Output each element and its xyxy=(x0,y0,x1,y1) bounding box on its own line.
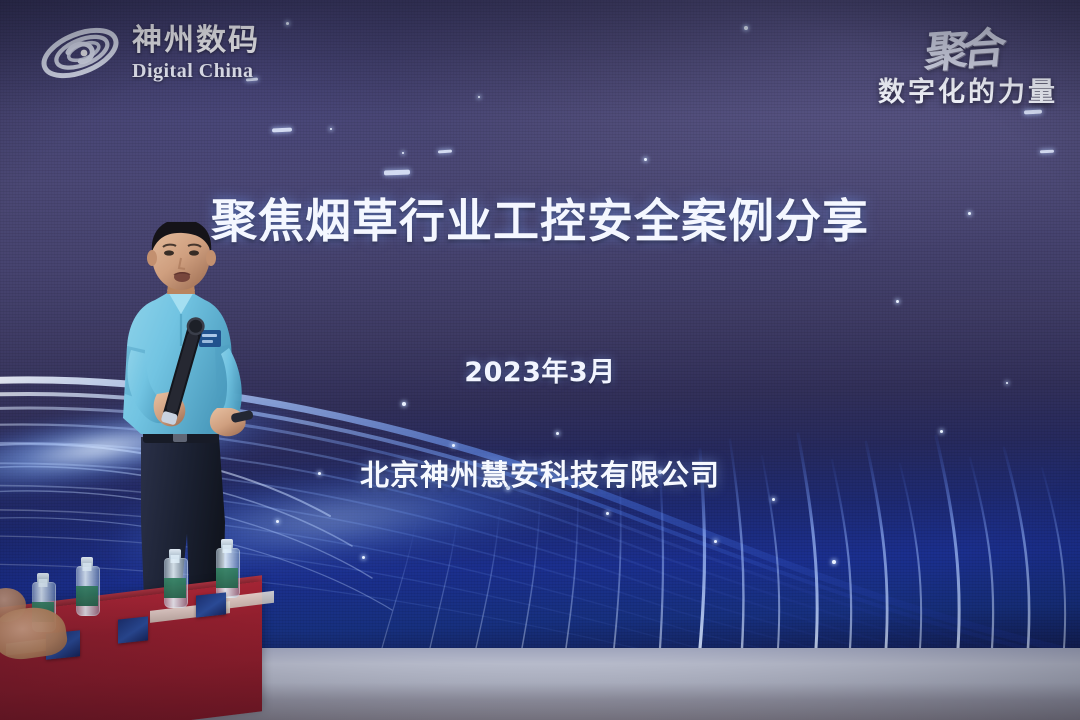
light-dash xyxy=(272,127,292,132)
water-bottle xyxy=(76,566,98,616)
swirl-galaxy-icon xyxy=(38,18,122,88)
water-bottle xyxy=(216,548,238,598)
logo-chinese-name: 神州数码 xyxy=(132,26,260,56)
juhe-event-logo: 聚合 数字化的力量 xyxy=(878,16,1058,109)
digital-china-logo: 神州数码 Digital China xyxy=(38,18,260,88)
light-dash xyxy=(1040,150,1054,154)
shirt-chest-logo xyxy=(199,330,221,347)
sparkle-particle xyxy=(286,22,289,25)
sparkle-particle xyxy=(644,158,647,161)
speaker-right-hand xyxy=(210,408,246,436)
table-name-card xyxy=(196,592,226,617)
light-dash xyxy=(384,170,410,176)
light-dash xyxy=(1024,110,1042,115)
sparkle-particle xyxy=(744,26,748,30)
sparkle-particle xyxy=(478,96,480,98)
sparkle-particle xyxy=(896,300,899,303)
sparkle-particle xyxy=(402,152,404,154)
sparkle-particle xyxy=(330,128,332,130)
light-dash xyxy=(438,150,452,154)
logo-english-name: Digital China xyxy=(132,61,260,81)
digital-china-wordmark: 神州数码 Digital China xyxy=(132,26,260,81)
conference-stage-photo: 神州数码 Digital China 聚合 数字化的力量 聚焦烟草行业工控安全案… xyxy=(0,0,1080,720)
table-name-card xyxy=(118,616,148,643)
water-bottle xyxy=(164,558,186,608)
brush-calligraphy-mark: 聚合 xyxy=(922,13,1003,80)
